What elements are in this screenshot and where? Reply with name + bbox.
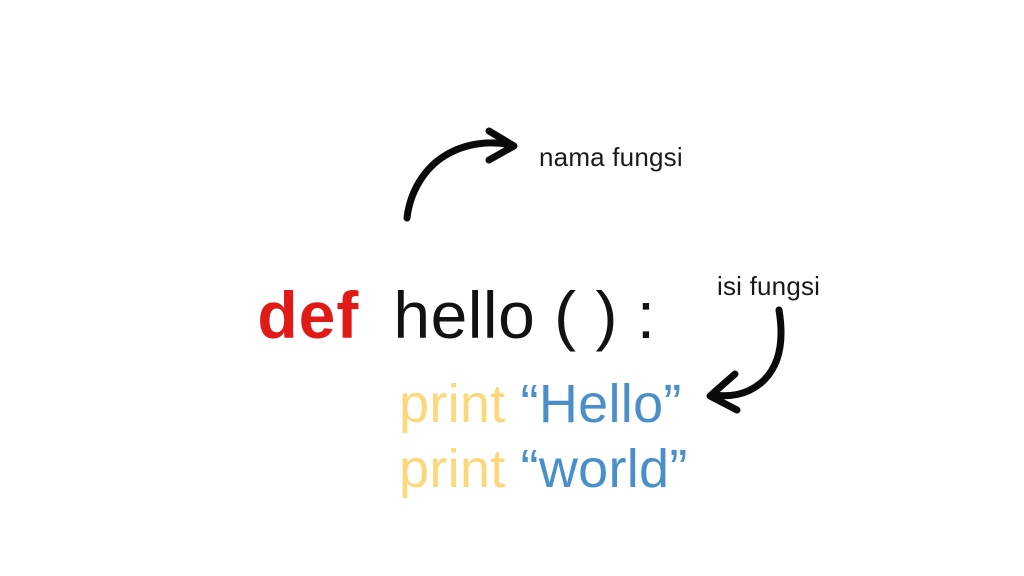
keyword-print-2: print [399, 439, 506, 499]
arrow-to-function-name-icon [407, 131, 514, 218]
arrow-to-function-body-icon [710, 310, 781, 410]
annotation-label-function-name: nama fungsi [539, 144, 683, 170]
string-literal-world: “world” [521, 439, 688, 499]
code-line-print-world: print“world” [339, 388, 688, 550]
annotation-label-function-body: isi fungsi [717, 273, 820, 299]
diagram-canvas: defhello ( ) : print“Hello” print“world”… [0, 0, 1024, 576]
